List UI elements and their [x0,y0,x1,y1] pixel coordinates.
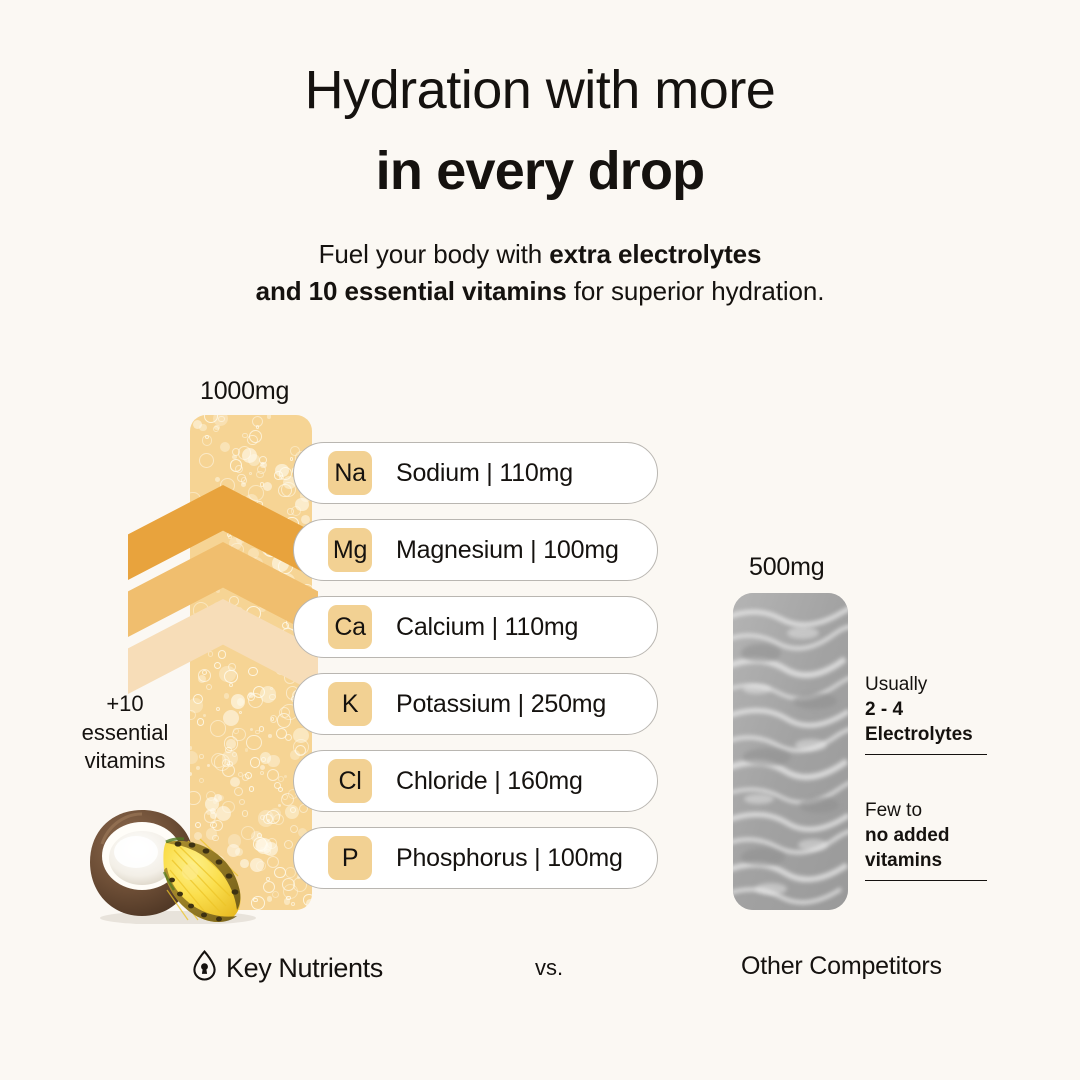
competitor-bar [733,593,848,910]
subheadline: Fuel your body with extra electrolytes a… [0,236,1080,310]
essential-vitamins-label: +10 essential vitamins [60,690,190,776]
water-drop-keyhole-icon [192,950,217,986]
electrolyte-label: Chloride | 160mg [396,767,583,796]
note-2-divider [865,880,987,881]
electrolyte-label: Sodium | 110mg [396,459,573,488]
electrolyte-pill-phosphorus[interactable]: PPhosphorus | 100mg [293,827,658,889]
competitor-note-vitamins: Few to no added vitamins [865,798,987,881]
electrolyte-label: Phosphorus | 100mg [396,844,623,873]
element-symbol-badge: Cl [328,759,372,803]
subheadline-bold-vitamins: and 10 essential vitamins [256,276,567,306]
element-symbol-badge: Ca [328,605,372,649]
coconut-pineapple-image [86,802,276,924]
note-1-bold-line-2: Electrolytes [865,722,987,747]
competitor-amount-label: 500mg [749,553,824,582]
note-1-light-text: Usually [865,672,987,697]
subheadline-bold-electrolytes: extra electrolytes [549,239,761,269]
subheadline-suffix: for superior hydration. [567,276,825,306]
element-symbol-badge: P [328,836,372,880]
note-2-bold-line-1: no added [865,823,987,848]
electrolyte-pill-chloride[interactable]: ClChloride | 160mg [293,750,658,812]
upward-chevrons-icon [128,485,318,685]
brand-name-label: Key Nutrients [226,953,383,984]
element-symbol-badge: Mg [328,528,372,572]
electrolyte-pill-calcium[interactable]: CaCalcium | 110mg [293,596,658,658]
electrolyte-label: Calcium | 110mg [396,613,578,642]
note-1-bold-line-1: 2 - 4 [865,697,987,722]
headline-line-1: Hydration with more [0,63,1080,117]
electrolyte-label: Potassium | 250mg [396,690,606,719]
note-2-light-text: Few to [865,798,987,823]
header: Hydration with more in every drop Fuel y… [0,0,1080,310]
chevron-arrow-icon-1 [128,485,318,580]
other-competitors-label: Other Competitors [741,952,942,981]
vitamins-label-line-3: vitamins [60,747,190,776]
note-1-divider [865,754,987,755]
electrolyte-pill-potassium[interactable]: KPotassium | 250mg [293,673,658,735]
vitamins-label-line-2: essential [60,719,190,748]
key-nutrients-amount-label: 1000mg [200,377,289,406]
electrolyte-label: Magnesium | 100mg [396,536,619,565]
note-2-bold-line-2: vitamins [865,848,987,873]
water-texture-image [733,593,848,910]
electrolyte-pill-sodium[interactable]: NaSodium | 110mg [293,442,658,504]
competitor-note-electrolytes: Usually 2 - 4 Electrolytes [865,672,987,755]
element-symbol-badge: Na [328,451,372,495]
electrolyte-pill-magnesium[interactable]: MgMagnesium | 100mg [293,519,658,581]
element-symbol-badge: K [328,682,372,726]
vs-label: vs. [535,955,563,981]
vitamins-label-line-1: +10 [60,690,190,719]
subheadline-prefix: Fuel your body with [319,239,550,269]
headline-line-2: in every drop [0,144,1080,198]
key-nutrients-logo: Key Nutrients [192,950,383,986]
